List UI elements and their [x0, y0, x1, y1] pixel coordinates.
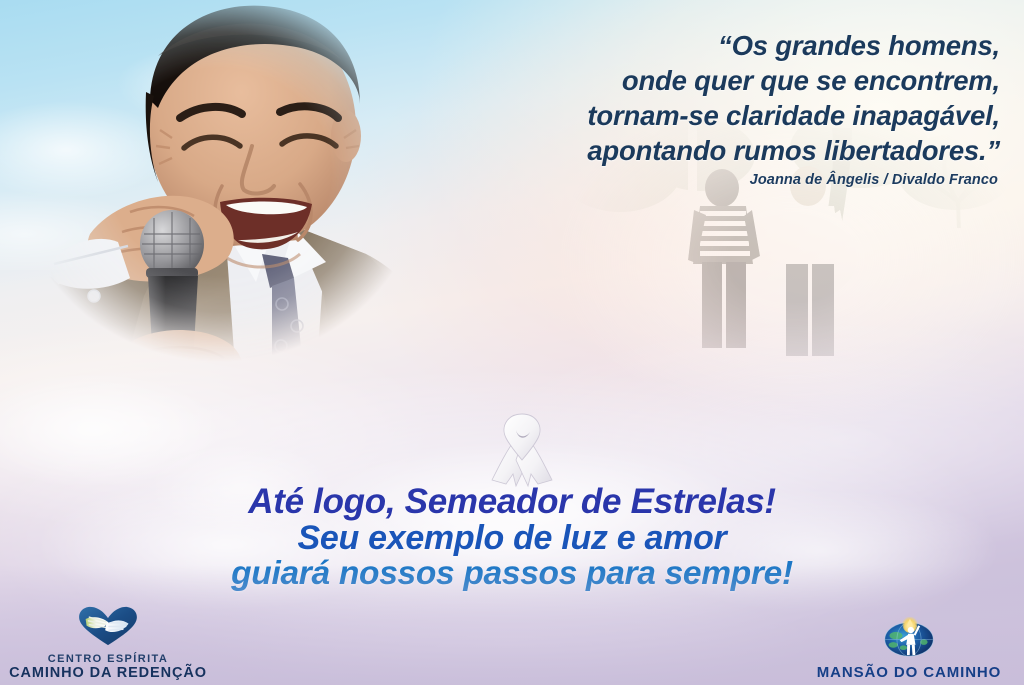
striped-shirt-figure [688, 169, 760, 348]
portrait-divaldo-franco [0, 0, 464, 436]
headline-line-3: guiará nossos passos para sempre! [0, 556, 1024, 592]
heart-with-hands-icon [78, 606, 138, 652]
quote-attribution: Joanna de Ângelis / Divaldo Franco [750, 172, 998, 188]
logo-centro-espirita: CENTRO ESPÍRITA CAMINHO DA REDENÇÃO [8, 606, 208, 681]
globe-with-figure-icon [883, 617, 935, 663]
logo-mansao-do-caminho: MANSÃO DO CAMINHO [804, 617, 1014, 681]
quote-line-3: tornam-se claridade inapagável, [440, 98, 1000, 133]
white-shirt-figure [768, 166, 850, 356]
quote-line-4: apontando rumos libertadores.” [440, 133, 1000, 168]
logo-left-line-2: CAMINHO DA REDENÇÃO [9, 666, 207, 681]
headline-block: Até logo, Semeador de Estrelas! Seu exem… [0, 484, 1024, 592]
headline-line-1: Até logo, Semeador de Estrelas! [0, 484, 1024, 520]
quote-block: “Os grandes homens, onde quer que se enc… [440, 28, 1000, 168]
tribute-poster: “Os grandes homens, onde quer que se enc… [0, 0, 1024, 685]
white-ribbon-icon [486, 408, 558, 488]
quote-line-1: “Os grandes homens, [440, 28, 1000, 63]
logo-right-line-1: MANSÃO DO CAMINHO [817, 665, 1001, 681]
quote-line-2: onde quer que se encontrem, [440, 63, 1000, 98]
headline-line-2: Seu exemplo de luz e amor [0, 520, 1024, 556]
